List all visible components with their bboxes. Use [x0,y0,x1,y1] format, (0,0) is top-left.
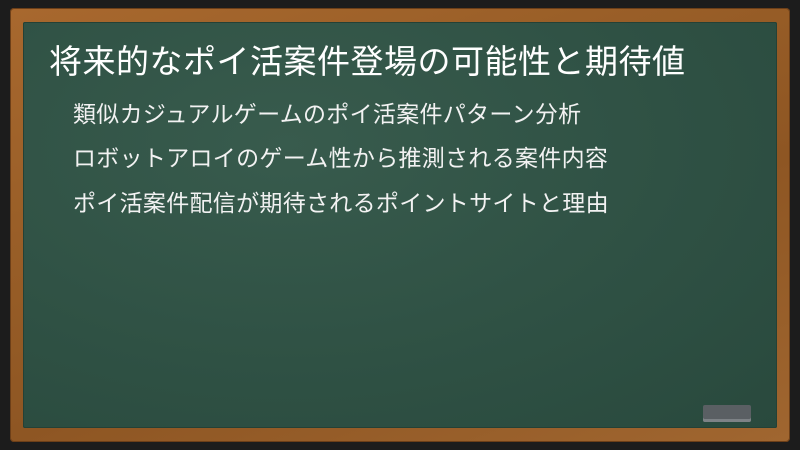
page-title: 将来的なポイ活案件登場の可能性と期待値 [49,40,751,84]
bullet-list: 類似カジュアルゲームのポイ活案件パターン分析 ロボットアロイのゲーム性から推測さ… [49,98,751,220]
chalkboard-frame: 将来的なポイ活案件登場の可能性と期待値 類似カジュアルゲームのポイ活案件パターン… [10,8,790,442]
chalkboard-surface: 将来的なポイ活案件登場の可能性と期待値 類似カジュアルゲームのポイ活案件パターン… [23,22,777,428]
slide-canvas: 将来的なポイ活案件登場の可能性と期待値 類似カジュアルゲームのポイ活案件パターン… [0,0,800,450]
list-item: ロボットアロイのゲーム性から推測される案件内容 [73,142,751,175]
list-item: 類似カジュアルゲームのポイ活案件パターン分析 [73,98,751,131]
eraser-icon [703,405,751,422]
list-item: ポイ活案件配信が期待されるポイントサイトと理由 [73,187,751,220]
